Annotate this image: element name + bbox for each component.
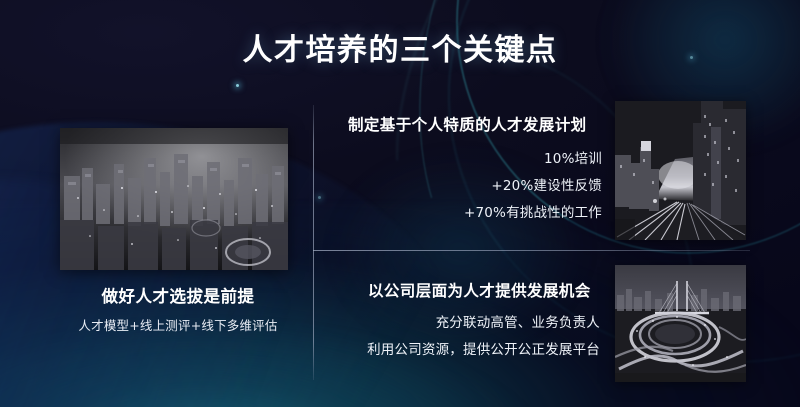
- right-bottom-line: 利用公司资源，提供公开公正发展平台: [328, 337, 600, 364]
- slide-canvas: 人才培养的三个关键点: [0, 0, 800, 407]
- page-title: 人才培养的三个关键点: [0, 25, 800, 69]
- aerial-night-cityscape-image: [60, 128, 288, 270]
- right-top-line: +70%有挑战性的工作: [330, 200, 602, 227]
- right-top-photo: [615, 101, 746, 240]
- spiral-highway-interchange-image: [615, 265, 746, 382]
- right-top-lines: 10%培训 +20%建设性反馈 +70%有挑战性的工作: [330, 146, 602, 227]
- vertical-divider: [313, 105, 314, 380]
- right-bottom-photo: [615, 265, 746, 382]
- right-top-line: 10%培训: [330, 146, 602, 173]
- right-bottom-lines: 充分联动高管、业务负责人 利用公司资源，提供公开公正发展平台: [328, 310, 600, 364]
- right-top-heading: 制定基于个人特质的人才发展计划: [348, 113, 587, 135]
- right-top-line: +20%建设性反馈: [330, 173, 602, 200]
- sparkle-dot-2: [318, 196, 321, 199]
- right-bottom-line: 充分联动高管、业务负责人: [328, 310, 600, 337]
- sparkle-dot-1: [236, 84, 239, 87]
- right-bottom-heading: 以公司层面为人才提供发展机会: [368, 279, 591, 301]
- left-photo: [60, 128, 288, 270]
- left-subtext: 人才模型+线上测评+线下多维评估: [50, 315, 306, 334]
- city-street-light-trails-image: [615, 101, 746, 240]
- horizontal-divider: [313, 250, 750, 251]
- left-heading: 做好人才选拔是前提: [62, 283, 294, 307]
